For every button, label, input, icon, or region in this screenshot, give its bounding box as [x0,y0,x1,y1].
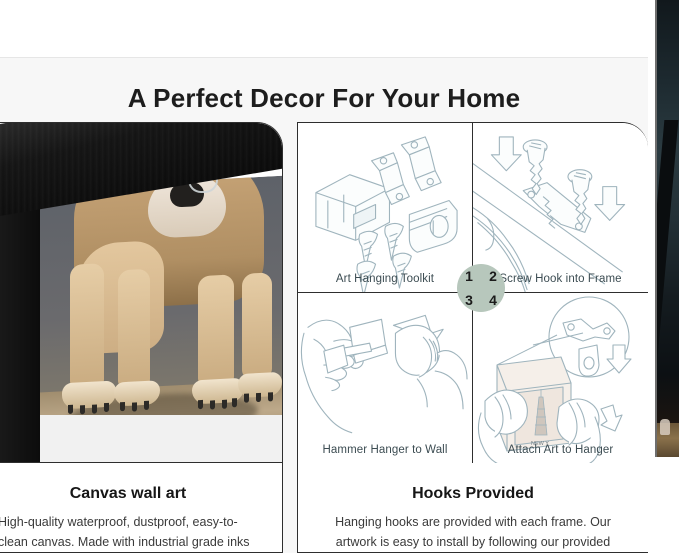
hooks-card-body: Hanging hooks are provided with each fra… [310,512,636,553]
top-white-band [0,0,648,57]
badge-number-4: 4 [481,288,505,312]
attach-art-to-hanger-illustration: NEW Y [473,293,648,463]
sliver-left-border [655,0,657,457]
dog-leg [242,272,272,380]
adjacent-image-sliver[interactable] [655,0,679,457]
dog-leg [118,269,150,391]
badge-number-3: 3 [457,288,481,312]
hooks-card-text: Hooks Provided Hanging hooks are provide… [298,469,648,553]
hooks-card-title: Hooks Provided [310,485,636,503]
hammer-hanger-to-wall-illustration [298,293,472,463]
badge-number-2: 2 [481,264,505,288]
sliver-bottom-white [655,457,679,553]
photo-divider [0,462,282,463]
step-1-caption: Art Hanging Toolkit [298,273,472,285]
step-3-caption: Hammer Hanger to Wall [298,444,472,456]
badge-number-1: 1 [457,264,481,288]
art-hanging-toolkit-illustration [298,123,472,292]
dog-paw [114,380,160,406]
instruction-step-4: NEW Y Attach Art to Hanger [473,293,648,463]
instruction-step-3: Hammer Hanger to Wall [298,293,473,463]
dog-paw [192,378,244,405]
instruction-step-1: Art Hanging Toolkit [298,123,473,293]
frame-left-rail [0,183,40,463]
product-detail-page: A Perfect Decor For Your Home [0,0,679,553]
canvas-wall-art-card: Canvas wall art High-quality waterproof,… [0,122,283,553]
hooks-provided-card: Art Hanging Toolkit [297,122,648,553]
framed-canvas-photo [0,123,282,463]
sliver-figure [660,419,670,435]
canvas-mat [30,415,282,463]
dog-leg [70,263,104,391]
canvas-card-title: Canvas wall art [0,485,270,503]
dog-paw [62,380,116,409]
gallery-gutter [648,0,655,553]
step-number-badge: 1 2 3 4 [457,264,505,312]
dog-leg [198,274,234,388]
canvas-card-text: Canvas wall art High-quality waterproof,… [0,469,282,553]
canvas-card-body: High-quality waterproof, dustproof, easy… [0,512,270,553]
step-4-caption: Attach Art to Hanger [473,444,648,456]
page-title: A Perfect Decor For Your Home [0,78,648,118]
